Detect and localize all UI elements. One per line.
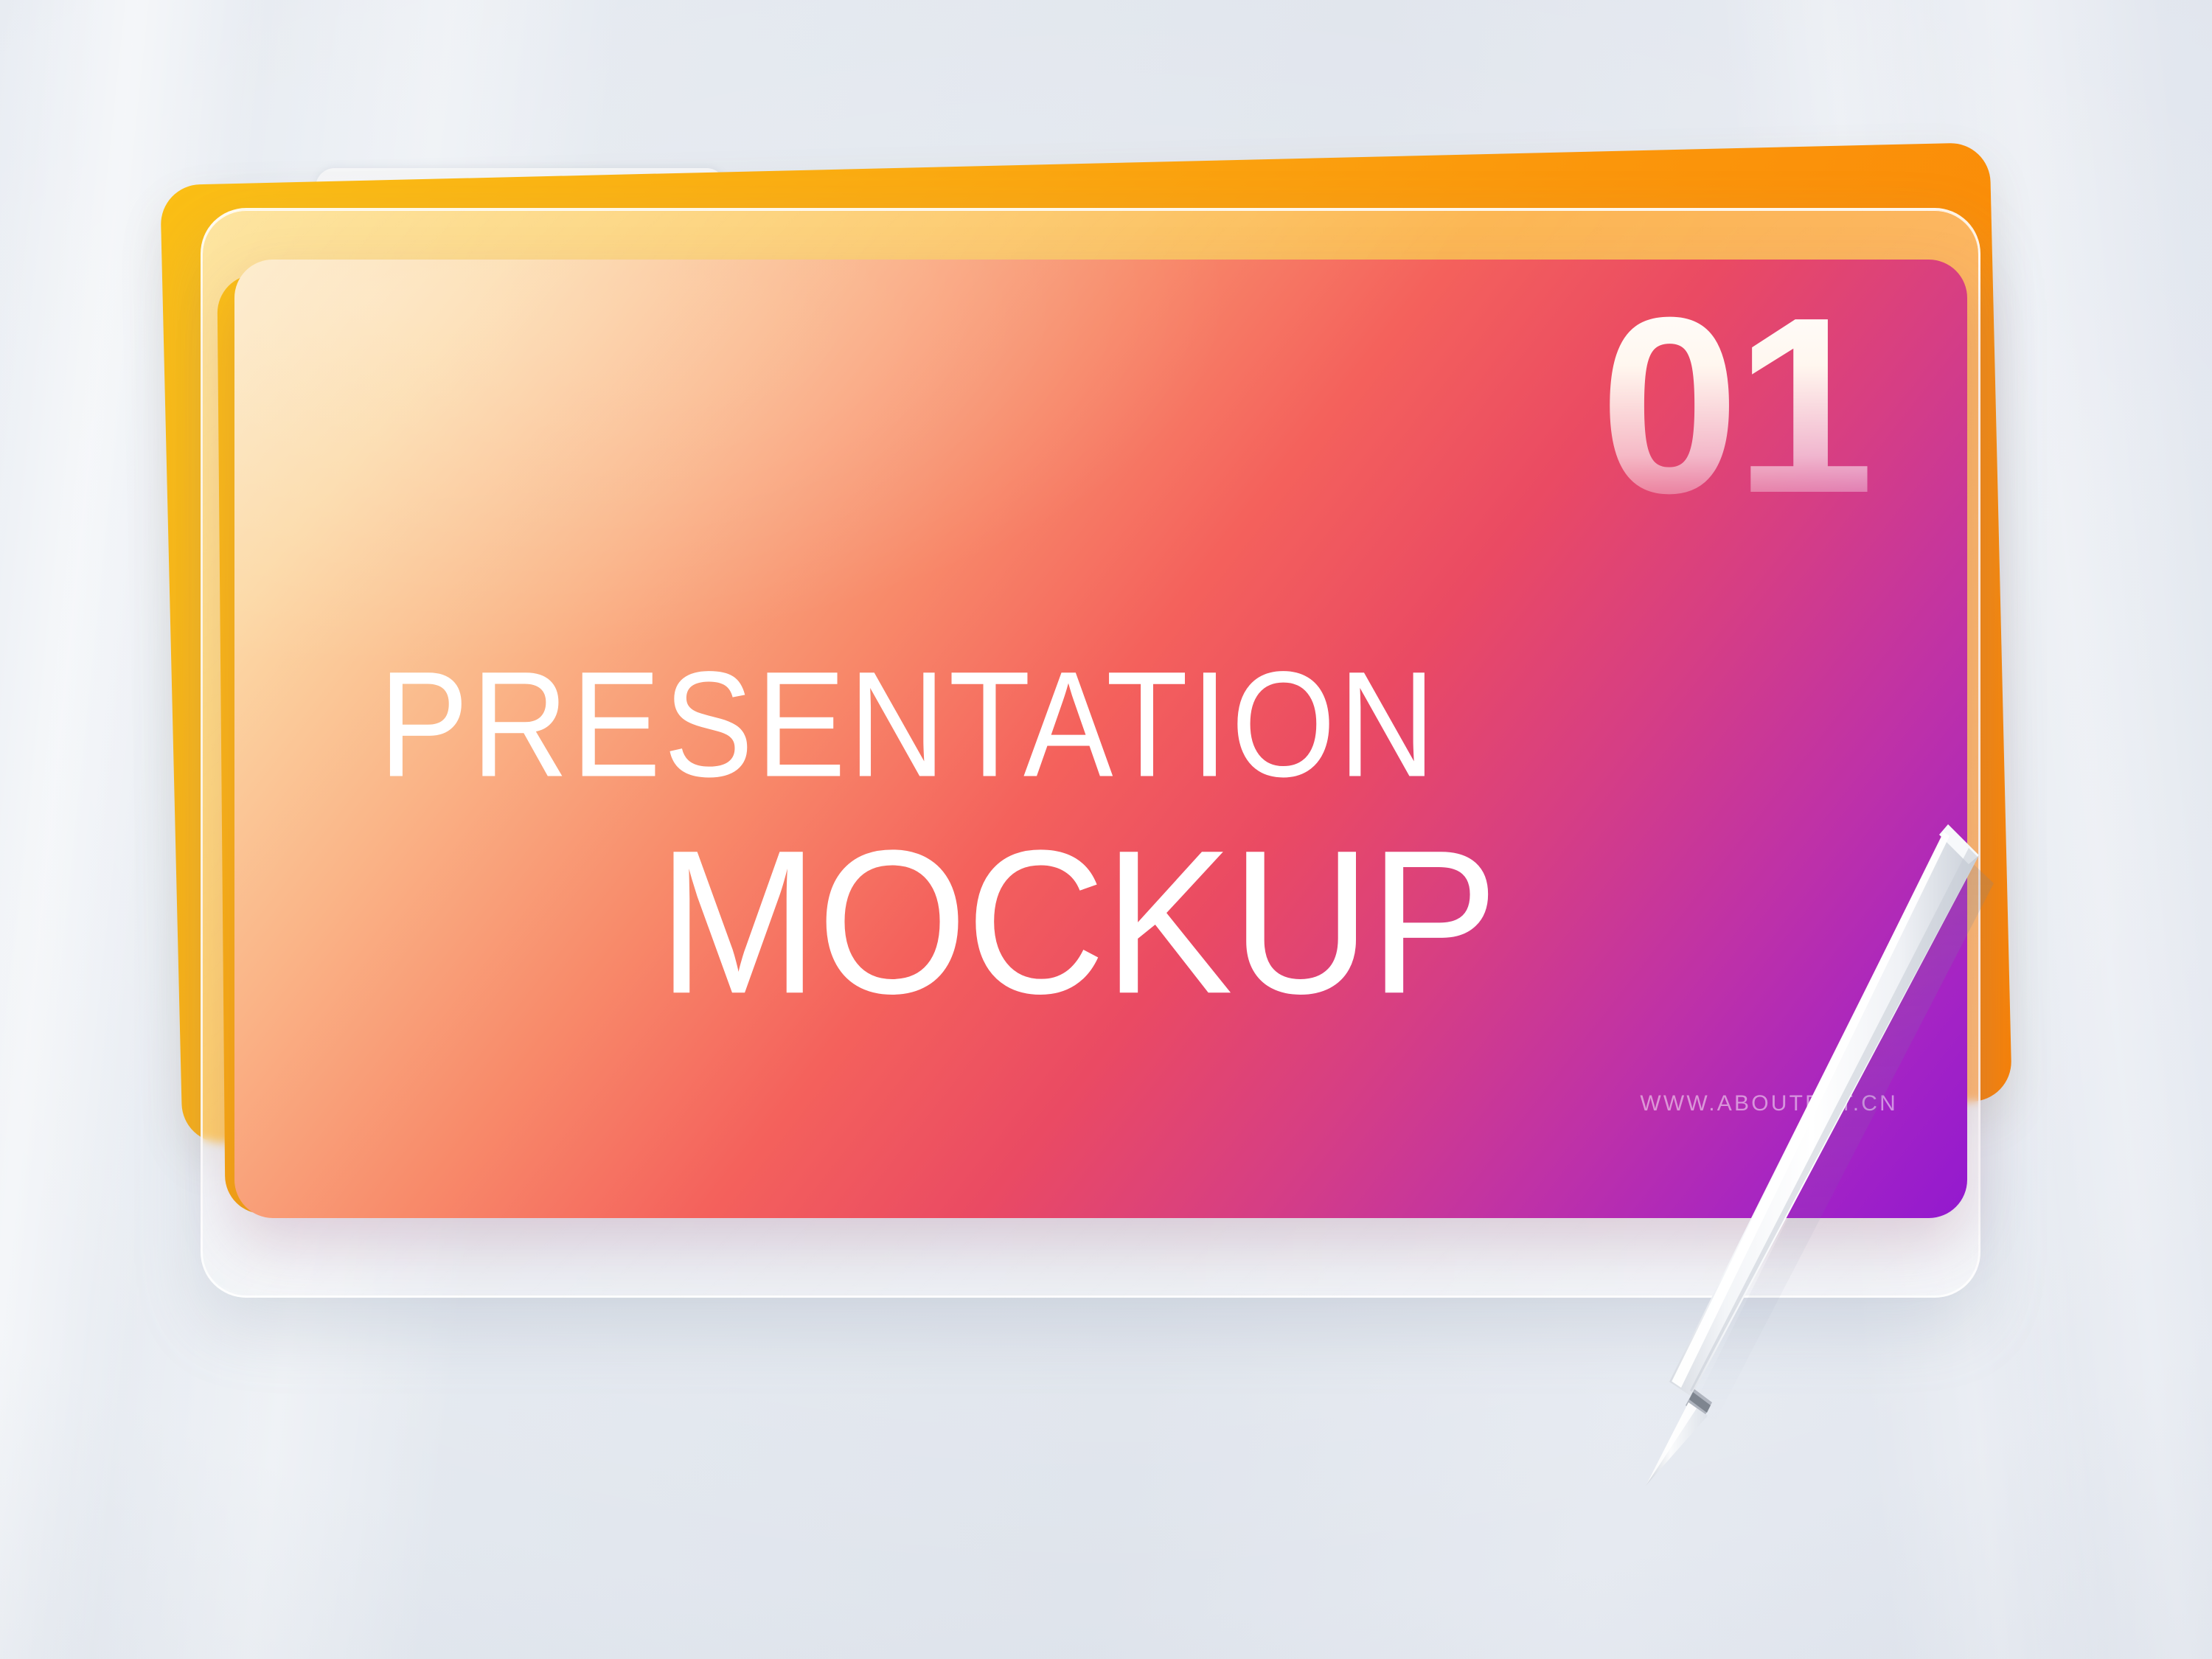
slide-number: 01 [1600, 280, 1870, 531]
hero-slide-card[interactable]: 01 PRESENTATION MOCKUP WWW.ABOUTPPT.CN [234, 260, 1967, 1218]
watermark-url: WWW.ABOUTPPT.CN [1640, 1091, 1898, 1116]
card-stack: 苹果手机价格 10399 [0, 0, 2212, 1659]
slide-canvas: 苹果手机价格 10399 [0, 0, 2212, 1659]
headline-primary: PRESENTATION [379, 649, 1439, 799]
headline-secondary: MOCKUP [658, 820, 1497, 1025]
